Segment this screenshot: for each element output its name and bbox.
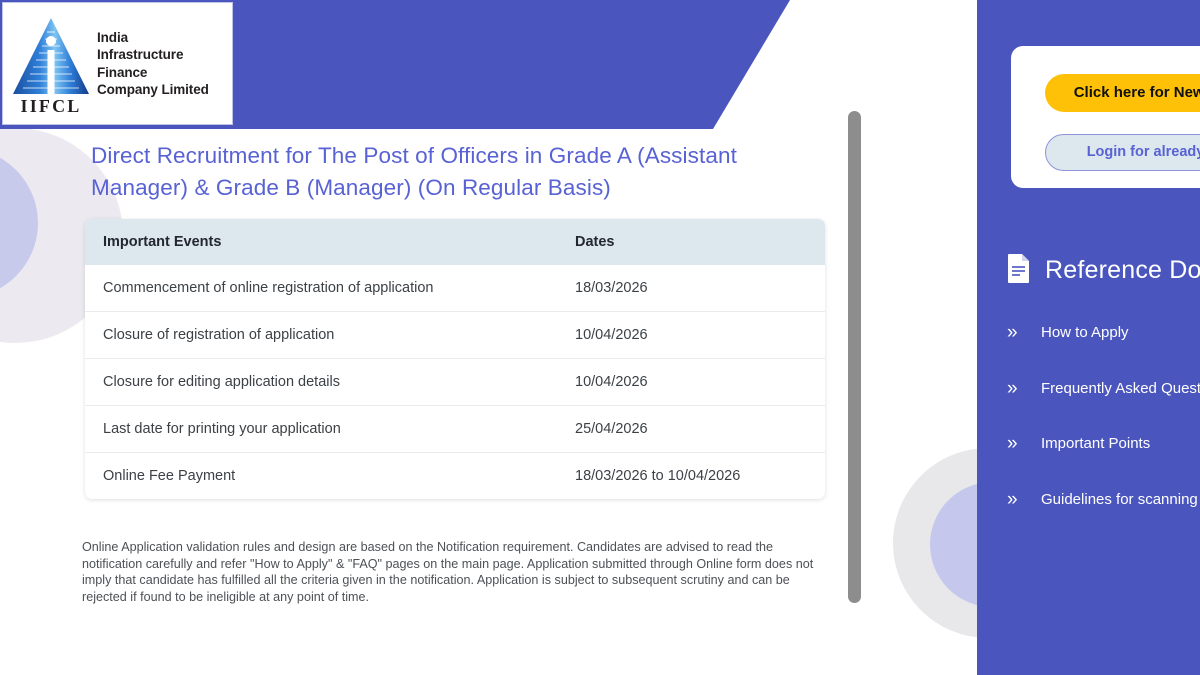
column-header-events: Important Events [85,219,575,265]
brand-logo: IIFCL India Infrastructure Finance Compa… [2,2,233,125]
new-registration-button[interactable]: Click here for New Registration [1045,74,1200,112]
page-scrollbar-thumb[interactable] [848,111,861,603]
reference-link-how-to-apply[interactable]: » How to Apply [1007,305,1200,361]
reference-link-important-points[interactable]: » Important Points [1007,416,1200,472]
document-icon [1007,253,1031,288]
chevron-double-right-icon: » [1007,490,1023,509]
table-row: Online Fee Payment 18/03/2026 to 10/04/2… [85,453,825,500]
brand-name-line-4: Company Limited [97,81,209,99]
table-row: Last date for printing your application … [85,406,825,453]
table-cell-event: Online Fee Payment [85,453,575,500]
reference-documents-header: Reference Documents [1007,253,1200,288]
table-row: Closure of registration of application 1… [85,312,825,359]
reference-link-label: How to Apply [1041,324,1129,341]
reference-link-faq[interactable]: » Frequently Asked Questions [1007,361,1200,417]
table-cell-date: 18/03/2026 [575,265,825,312]
action-card: Click here for New Registration Login fo… [1011,46,1200,188]
iifcl-pyramid-logo-icon: IIFCL [9,10,93,118]
disclaimer-text: Online Application validation rules and … [82,539,827,605]
login-registered-button[interactable]: Login for already Registered [1045,134,1200,171]
application-page: IIFCL India Infrastructure Finance Compa… [0,0,1200,675]
table-cell-date: 25/04/2026 [575,406,825,453]
reference-link-scanning-guidelines[interactable]: » Guidelines for scanning [1007,472,1200,528]
table-cell-event: Closure of registration of application [85,312,575,359]
table-row: Commencement of online registration of a… [85,265,825,312]
reference-documents-list: » How to Apply » Frequently Asked Questi… [1007,305,1200,527]
brand-name: India Infrastructure Finance Company Lim… [97,29,209,99]
chevron-double-right-icon: » [1007,434,1023,453]
reference-documents-title: Reference Documents [1045,256,1200,285]
brand-name-line-1: India [97,29,209,47]
column-header-dates: Dates [575,219,825,265]
main-content: Direct Recruitment for The Post of Offic… [0,129,860,675]
table-header-row: Important Events Dates [85,219,825,265]
page-title: Direct Recruitment for The Post of Offic… [91,140,801,204]
table-cell-date: 10/04/2026 [575,312,825,359]
svg-text:IIFCL: IIFCL [20,96,81,116]
brand-name-line-3: Finance [97,64,209,82]
table-cell-date: 10/04/2026 [575,359,825,406]
reference-link-label: Important Points [1041,435,1150,452]
table-cell-date: 18/03/2026 to 10/04/2026 [575,453,825,500]
table-cell-event: Last date for printing your application [85,406,575,453]
chevron-double-right-icon: » [1007,379,1023,398]
reference-link-label: Guidelines for scanning [1041,491,1198,508]
right-sidebar: Click here for New Registration Login fo… [977,0,1200,675]
table-row: Closure for editing application details … [85,359,825,406]
chevron-double-right-icon: » [1007,323,1023,342]
brand-name-line-2: Infrastructure [97,46,209,64]
important-dates-table: Important Events Dates Commencement of o… [85,219,825,499]
table-cell-event: Closure for editing application details [85,359,575,406]
table-cell-event: Commencement of online registration of a… [85,265,575,312]
reference-link-label: Frequently Asked Questions [1041,380,1200,397]
